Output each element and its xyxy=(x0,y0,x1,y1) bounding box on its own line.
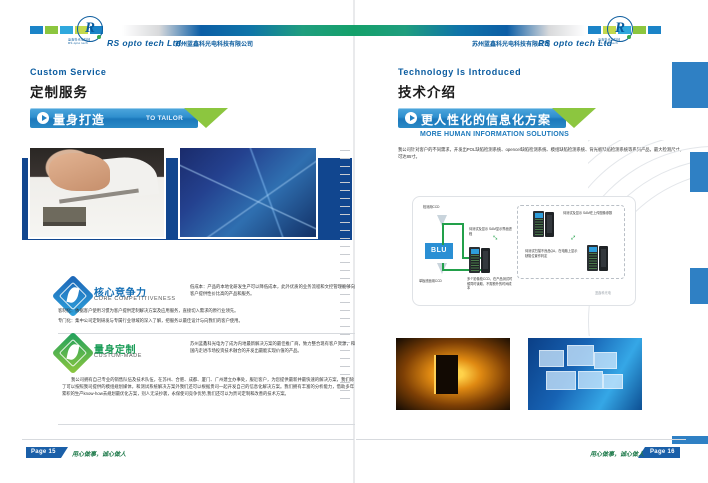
masthead-bar-right xyxy=(354,25,586,36)
edge-tab-bottom xyxy=(672,436,708,444)
page-number-right: Page 16 xyxy=(645,447,680,458)
server-unit-right xyxy=(587,245,609,271)
brand-name-left: RS opto tech Ltd xyxy=(107,38,181,48)
blu-panel: BLU xyxy=(425,243,453,259)
company-name-right: 苏州蓝鑫科光电科技有限公司 xyxy=(472,39,550,48)
logo-letter: R xyxy=(85,20,95,36)
footer-rule-left xyxy=(22,439,354,440)
server-unit-main xyxy=(469,247,491,273)
slogan-right: 用心做事，诚心做人 xyxy=(590,449,644,458)
right-banner-arrow-icon xyxy=(552,108,596,128)
diagram-note-multi-ccd: 多个影像检CCD，在产品测试时候同时读取，不需额外的时间成本 xyxy=(467,277,513,291)
left-eyebrow: Custom Service xyxy=(30,67,106,77)
edge-tab-mid xyxy=(690,152,708,192)
feature-divider-2 xyxy=(58,424,355,425)
logo-letter: R xyxy=(615,20,625,36)
footer-rule-right xyxy=(356,439,686,440)
wire-segment xyxy=(462,223,464,259)
left-page-title: 定制服务 xyxy=(30,81,88,101)
feature-1-para-1: 低成本：产品的本地化研发生产可以降低成本，此外优质的业务流程和文控管理能够向客户… xyxy=(190,283,355,297)
diagram-label-ccd-top: 检测用CCD xyxy=(423,205,463,210)
diagram-watermark: 蓝鑫科光电 xyxy=(595,291,611,296)
photo-craftsman xyxy=(28,146,166,239)
right-eyebrow: Technology Is Introduced xyxy=(398,67,521,77)
photo-laser-light xyxy=(394,336,512,412)
slogan-left: 用心做事，诚心做人 xyxy=(72,449,126,458)
feature-2-para-1: 苏州蓝鑫科光电为了成为内地最新解决方案的最佳推广商，致力整合现有客户资源，和国内… xyxy=(190,340,355,354)
photo-digital-screens xyxy=(526,336,644,412)
play-icon xyxy=(405,112,417,124)
wire-segment xyxy=(442,223,444,245)
right-banner-cn: 更人性化的信息化方案 xyxy=(421,111,551,128)
brochure-spread: R 蓝鑫科光电科技 RS opto tech RS opto tech Ltd … xyxy=(0,0,708,483)
diagram-label-host-top: 待测试及显示 SAM在上传图像参数 xyxy=(563,211,615,216)
system-diagram: 检测用CCD BLU 单板底面用CCD 待测试及显示 SAM显示界面进程 多个影… xyxy=(412,196,636,306)
company-name-left: 苏州蓝鑫科光电科技有限公司 xyxy=(175,39,253,48)
wire-segment xyxy=(442,223,464,225)
right-banner-sub-en: MORE HUMAN INFORMATION SOLUTIONS xyxy=(420,131,569,138)
page-number-left: Page 15 xyxy=(26,447,61,458)
logo-dot-icon xyxy=(97,35,101,39)
right-banner: 更人性化的信息化方案 xyxy=(398,108,566,128)
left-banner-en: TO TAILOR xyxy=(146,115,183,122)
masthead-bar-left xyxy=(122,25,354,36)
logo-caption-left: 蓝鑫科光电科技 RS opto tech xyxy=(68,38,90,46)
photo-industrial-tech xyxy=(178,146,318,239)
diagram-label-ccd-bottom: 单板底面用CCD xyxy=(419,279,467,284)
feature-2-title-en: CUSTOM-MADE xyxy=(94,353,142,359)
feature-1-title-en: CORE COMPETITIVENESS xyxy=(94,296,176,302)
diagram-label-host-right: 待测试扫描不良品QA，在电脑上显示缺陷位置作判定 xyxy=(525,249,579,258)
left-banner-cn: 量身打造 xyxy=(53,111,105,128)
left-banner-arrow-icon xyxy=(184,108,228,128)
feature-1-para-3: 专门化：集中公司定制研发与专属行业领域的深入了解，把服务以最佳设计与向我们的客户… xyxy=(58,317,355,324)
edge-tab-lower xyxy=(690,268,708,304)
feature-2-para-2: 我公司拥有自己专业的销售队伍及技术队伍，在苏州、合肥、成都、厦门、广州建立办事处… xyxy=(62,376,354,397)
feature-divider-1 xyxy=(58,333,355,334)
logo-dot-icon xyxy=(627,35,631,39)
left-banner: 量身打造 TO TAILOR xyxy=(30,108,198,128)
feature-1-para-2: 客制化：依据客户使用习惯为客户提供定制解决方案及应用服务，直接切入需求的原行业领… xyxy=(58,307,355,314)
right-page-title: 技术介绍 xyxy=(398,81,456,101)
play-icon xyxy=(37,112,49,124)
edge-tab-top xyxy=(672,62,708,108)
server-unit-top xyxy=(533,211,555,237)
